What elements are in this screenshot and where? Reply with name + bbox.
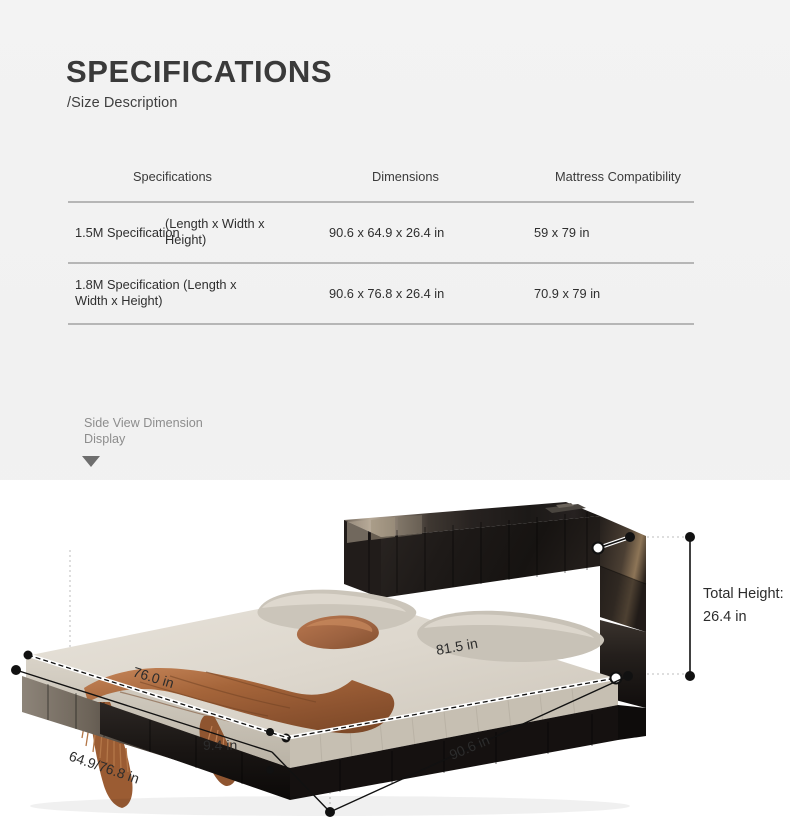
- row-2-spec-name: 1.8M Specification (Length x Width x Hei…: [75, 277, 260, 310]
- chevron-down-icon[interactable]: [82, 456, 100, 467]
- row-1-mattress: 59 x 79 in: [534, 225, 590, 241]
- table-row: 1.8M Specification (Length x Width x Hei…: [68, 264, 694, 323]
- row-2-mattress: 70.9 x 79 in: [534, 286, 600, 302]
- column-header-mattress-compatibility: Mattress Compatibility: [555, 169, 681, 184]
- dimension-diagram: 81.5 in 76.0 in 9.4 in 64.9/76.8 in 90.6…: [0, 480, 790, 836]
- column-header-specifications: Specifications: [133, 169, 212, 184]
- row-1-spec-suffix: (Length x Width x Height): [165, 216, 283, 249]
- table-divider: [68, 323, 694, 325]
- label-total-height: Total Height:: [703, 586, 784, 602]
- label-total-height-value: 26.4 in: [703, 609, 747, 625]
- row-1-spec-name: 1.5M Specification: [75, 225, 180, 241]
- specifications-table: Specifications Dimensions Mattress Compa…: [68, 160, 694, 325]
- page-subtitle: /Size Description: [67, 95, 178, 111]
- row-1-dimensions: 90.6 x 64.9 x 26.4 in: [329, 225, 444, 241]
- column-header-dimensions: Dimensions: [372, 169, 439, 184]
- label-base-height: 9.4 in: [203, 737, 237, 753]
- row-2-dimensions: 90.6 x 76.8 x 26.4 in: [329, 286, 444, 302]
- table-row: 1.5M Specification (Length x Width x Hei…: [68, 203, 694, 262]
- page-title: SPECIFICATIONS: [66, 55, 332, 89]
- side-view-label: Side View Dimension Display: [84, 416, 234, 447]
- table-header-row: Specifications Dimensions Mattress Compa…: [68, 160, 694, 201]
